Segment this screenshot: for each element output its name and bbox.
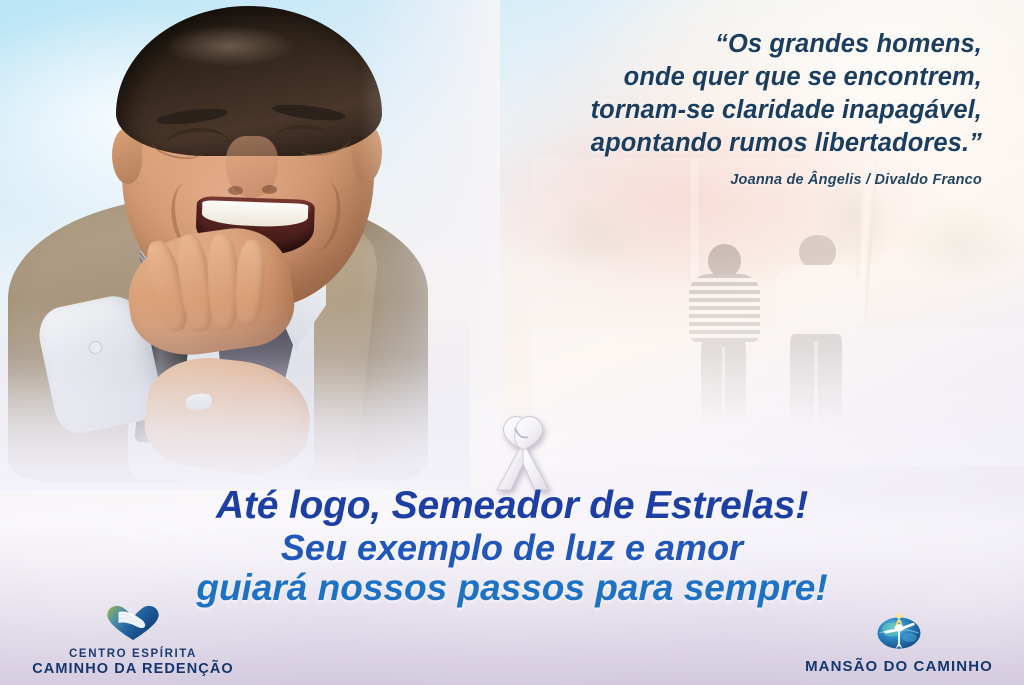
- quote-line-4: apontando rumos libertadores.”: [422, 127, 982, 160]
- mourning-ribbon-icon: [487, 412, 559, 492]
- portrait-nostril-left: [228, 186, 243, 195]
- portrait-hair-highlight: [166, 26, 294, 66]
- quote-block: “Os grandes homens, onde quer que se enc…: [422, 28, 982, 160]
- logo-left-line-1: CENTRO ESPÍRITA: [8, 648, 258, 660]
- headline-line-2: Seu exemplo de luz e amor: [0, 530, 1024, 567]
- memorial-poster: “Os grandes homens, onde quer que se enc…: [0, 0, 1024, 685]
- logo-right-line-1: MANSÃO DO CAMINHO: [784, 658, 1014, 675]
- heart-hands-icon: [8, 602, 258, 647]
- logo-centro-espirita[interactable]: CENTRO ESPÍRITA CAMINHO DA REDENÇÃO: [8, 602, 258, 677]
- headline-block: Até logo, Semeador de Estrelas! Seu exem…: [0, 486, 1024, 607]
- portrait-nostril-right: [262, 185, 277, 194]
- quote-line-2: onde quer que se encontrem,: [422, 61, 982, 94]
- quote-attribution: Joanna de Ângelis / Divaldo Franco: [422, 172, 982, 188]
- logo-mansao-do-caminho[interactable]: MANSÃO DO CAMINHO: [784, 608, 1014, 675]
- globe-figure-flame-icon: [784, 608, 1014, 656]
- logo-left-line-2: CAMINHO DA REDENÇÃO: [8, 661, 258, 677]
- quote-line-1: “Os grandes homens,: [422, 28, 982, 61]
- headline-line-1: Até logo, Semeador de Estrelas!: [0, 486, 1024, 526]
- quote-line-3: tornam-se claridade inapagável,: [422, 94, 982, 127]
